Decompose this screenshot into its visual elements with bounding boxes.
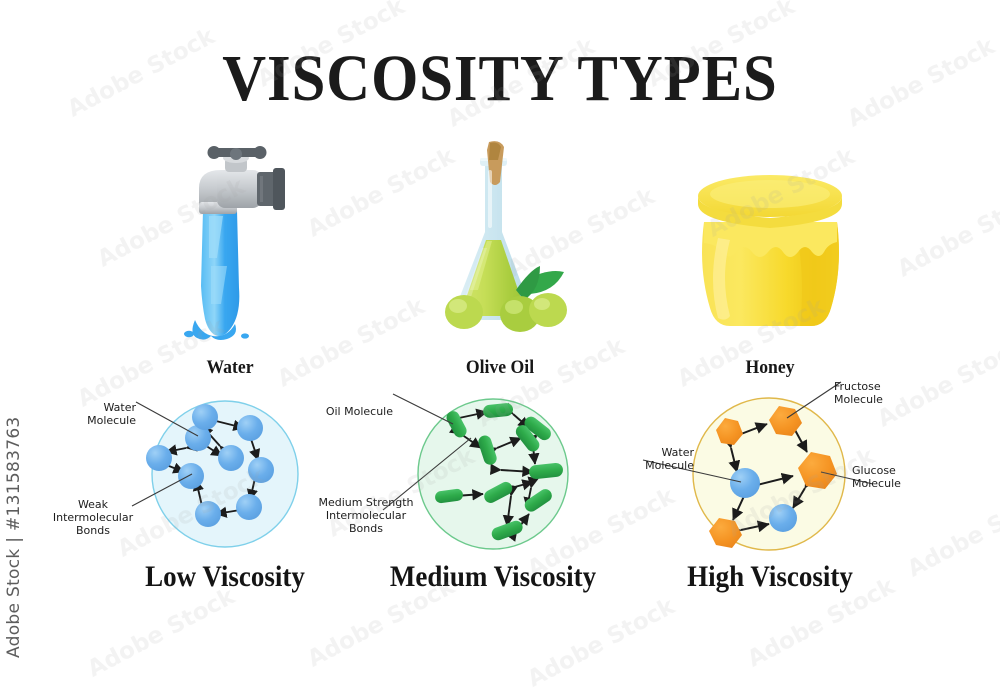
page-title: VISCOSITY TYPES xyxy=(40,46,960,112)
callout-medium-bonds: Medium Strength Intermolecular Bonds xyxy=(308,496,424,535)
adobe-stock-watermark: Adobe Stock | #131583763 xyxy=(4,416,24,658)
callout-oil-molecule: Oil Molecule xyxy=(305,405,393,418)
faucet-icon xyxy=(165,138,295,353)
product-label-water: Water xyxy=(170,357,291,379)
watermark-tile: Adobe Stock xyxy=(273,293,429,392)
water-molecule-diagram xyxy=(140,390,320,565)
product-label-olive-oil: Olive Oil xyxy=(435,357,565,379)
callout-water-molecule: Water Molecule xyxy=(58,401,136,427)
callout-water-molecule-honey: Water Molecule xyxy=(614,446,694,472)
callout-fructose-molecule: Fructose Molecule xyxy=(834,380,930,406)
viscosity-label-low: Low Viscosity xyxy=(113,560,338,594)
callout-glucose-molecule: Glucose Molecule xyxy=(852,464,944,490)
watermark-tile: Adobe Stock xyxy=(893,183,1000,282)
watermark-tile: Adobe Stock xyxy=(903,483,1000,582)
oil-molecule-diagram xyxy=(405,390,590,565)
watermark-tile: Adobe Stock xyxy=(83,583,239,682)
callout-weak-bonds: Weak Intermolecular Bonds xyxy=(38,498,148,537)
watermark-tile: Adobe Stock xyxy=(523,593,679,692)
infographic-canvas: VISCOSITY TYPES xyxy=(0,0,1000,667)
product-label-honey: Honey xyxy=(696,357,845,379)
viscosity-label-medium: Medium Viscosity xyxy=(381,560,606,594)
oil-bottle-icon xyxy=(430,140,570,350)
viscosity-label-high: High Viscosity xyxy=(658,560,883,594)
honey-molecule-diagram xyxy=(685,390,865,565)
honey-jar-icon xyxy=(688,160,853,350)
